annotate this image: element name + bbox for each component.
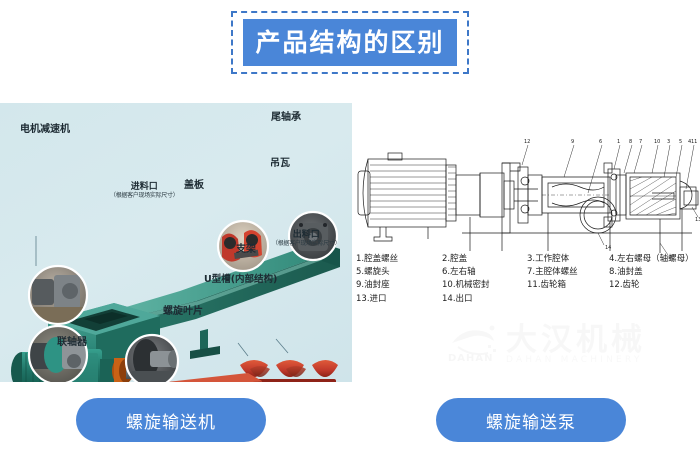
svg-text:7: 7 bbox=[639, 139, 642, 145]
label-u-trough-text: U型槽(内部结构) bbox=[204, 274, 277, 285]
button-screw-conveyor-label: 螺旋输送机 bbox=[126, 408, 216, 433]
part-item: 10.机械密封 bbox=[442, 279, 527, 292]
label-support-frame-text: 支架 bbox=[236, 244, 256, 255]
left-product-panel: 电机减速机 进料口 （根据客户现场实际尺寸） 盖板 尾轴承 吊瓦 支架 出料口 … bbox=[0, 103, 352, 382]
part-item: 5.螺旋头 bbox=[356, 266, 442, 279]
part-item: 11.齿轮箱 bbox=[527, 279, 609, 292]
screw-conveyor-illustration: 电机减速机 进料口 （根据客户现场实际尺寸） 盖板 尾轴承 吊瓦 支架 出料口 … bbox=[0, 103, 352, 382]
drawing-callout-numbers: 12 9 6 1 8 7 10 3 5 11 14 4 13 4 bbox=[524, 139, 700, 261]
part-item: 7.主腔体螺丝 bbox=[527, 266, 609, 279]
label-hanger-bearing: 吊瓦 bbox=[270, 159, 290, 170]
part-item: 6.左右轴 bbox=[442, 266, 527, 279]
parts-row: 5.螺旋头 6.左右轴 7.主腔体螺丝 8.油封盖 bbox=[356, 266, 696, 279]
label-discharge-outlet-text: 出料口 bbox=[293, 230, 320, 240]
label-coupling: 联轴器 bbox=[57, 338, 87, 349]
svg-text:11: 11 bbox=[691, 139, 697, 145]
page-root: 产品结构的区别 bbox=[0, 0, 700, 451]
label-tail-bearing: 尾轴承 bbox=[271, 113, 301, 124]
svg-text:6: 6 bbox=[599, 139, 602, 145]
svg-text:14: 14 bbox=[605, 245, 611, 251]
part-item bbox=[527, 293, 609, 306]
svg-text:13: 13 bbox=[695, 217, 700, 223]
part-item: 3.工作腔体 bbox=[527, 253, 609, 266]
label-feed-inlet: 进料口 （根据客户现场实际尺寸） bbox=[110, 183, 178, 200]
label-feed-inlet-text: 进料口 bbox=[131, 182, 158, 192]
svg-text:3: 3 bbox=[667, 139, 670, 145]
part-item: 1.腔盖螺丝 bbox=[356, 253, 442, 266]
part-item: 2.腔盖 bbox=[442, 253, 527, 266]
label-screw-blade-text: 螺旋叶片 bbox=[163, 306, 203, 317]
label-cover-plate: 盖板 bbox=[184, 181, 204, 192]
label-motor-reducer-text: 电机减速机 bbox=[20, 124, 70, 135]
parts-row: 13.进口 14.出口 bbox=[356, 293, 696, 306]
label-tail-bearing-text: 尾轴承 bbox=[271, 112, 301, 123]
part-item: 8.油封盖 bbox=[609, 266, 643, 279]
svg-text:5: 5 bbox=[679, 139, 682, 145]
part-item: 12.齿轮 bbox=[609, 279, 640, 292]
watermark-mark: DAHAN bbox=[448, 353, 494, 364]
right-product-panel: 12 9 6 1 8 7 10 3 5 11 14 4 13 4 1.腔盖螺丝 … bbox=[352, 103, 700, 382]
label-screw-blade: 螺旋叶片 bbox=[163, 307, 203, 318]
part-item: 9.油封座 bbox=[356, 279, 442, 292]
page-title: 产品结构的区别 bbox=[255, 30, 444, 55]
parts-row: 1.腔盖螺丝 2.腔盖 3.工作腔体 4.左右螺母（轴螺母） bbox=[356, 253, 696, 266]
button-screw-pump[interactable]: 螺旋输送泵 bbox=[436, 398, 626, 442]
watermark-brand-en: DAHAN MACHINERY bbox=[506, 355, 643, 365]
label-cover-plate-text: 盖板 bbox=[184, 180, 204, 191]
part-item: 4.左右螺母（轴螺母） bbox=[609, 253, 694, 266]
svg-text:1: 1 bbox=[617, 139, 620, 145]
watermark-brand-cn: 大汉机械 bbox=[506, 325, 646, 356]
label-u-trough: U型槽(内部结构) bbox=[204, 275, 277, 285]
part-item: 14.出口 bbox=[442, 293, 527, 306]
page-title-box: 产品结构的区别 bbox=[243, 19, 457, 66]
parts-row: 9.油封座 10.机械密封 11.齿轮箱 12.齿轮 bbox=[356, 279, 696, 292]
page-title-frame: 产品结构的区别 bbox=[231, 11, 469, 74]
button-screw-conveyor[interactable]: 螺旋输送机 bbox=[76, 398, 266, 442]
part-item: 13.进口 bbox=[356, 293, 442, 306]
svg-text:10: 10 bbox=[654, 139, 660, 145]
label-discharge-outlet: 出料口 （根据客户现场实际尺寸） bbox=[272, 231, 340, 248]
button-screw-pump-label: 螺旋输送泵 bbox=[486, 408, 576, 433]
svg-text:8: 8 bbox=[629, 139, 632, 145]
label-support-frame: 支架 bbox=[236, 245, 256, 256]
watermark: DAHAN 大汉机械 DAHAN MACHINERY bbox=[448, 325, 698, 371]
svg-text:12: 12 bbox=[524, 139, 530, 145]
label-motor-reducer: 电机减速机 bbox=[20, 125, 70, 136]
label-feed-inlet-sub: （根据客户现场实际尺寸） bbox=[110, 193, 178, 199]
label-discharge-outlet-sub: （根据客户现场实际尺寸） bbox=[272, 241, 340, 247]
svg-text:4: 4 bbox=[688, 139, 691, 145]
svg-text:9: 9 bbox=[571, 139, 574, 145]
label-hanger-bearing-text: 吊瓦 bbox=[270, 158, 290, 169]
label-coupling-text: 联轴器 bbox=[57, 337, 87, 348]
parts-legend: 1.腔盖螺丝 2.腔盖 3.工作腔体 4.左右螺母（轴螺母） 5.螺旋头 6.左… bbox=[356, 253, 696, 306]
